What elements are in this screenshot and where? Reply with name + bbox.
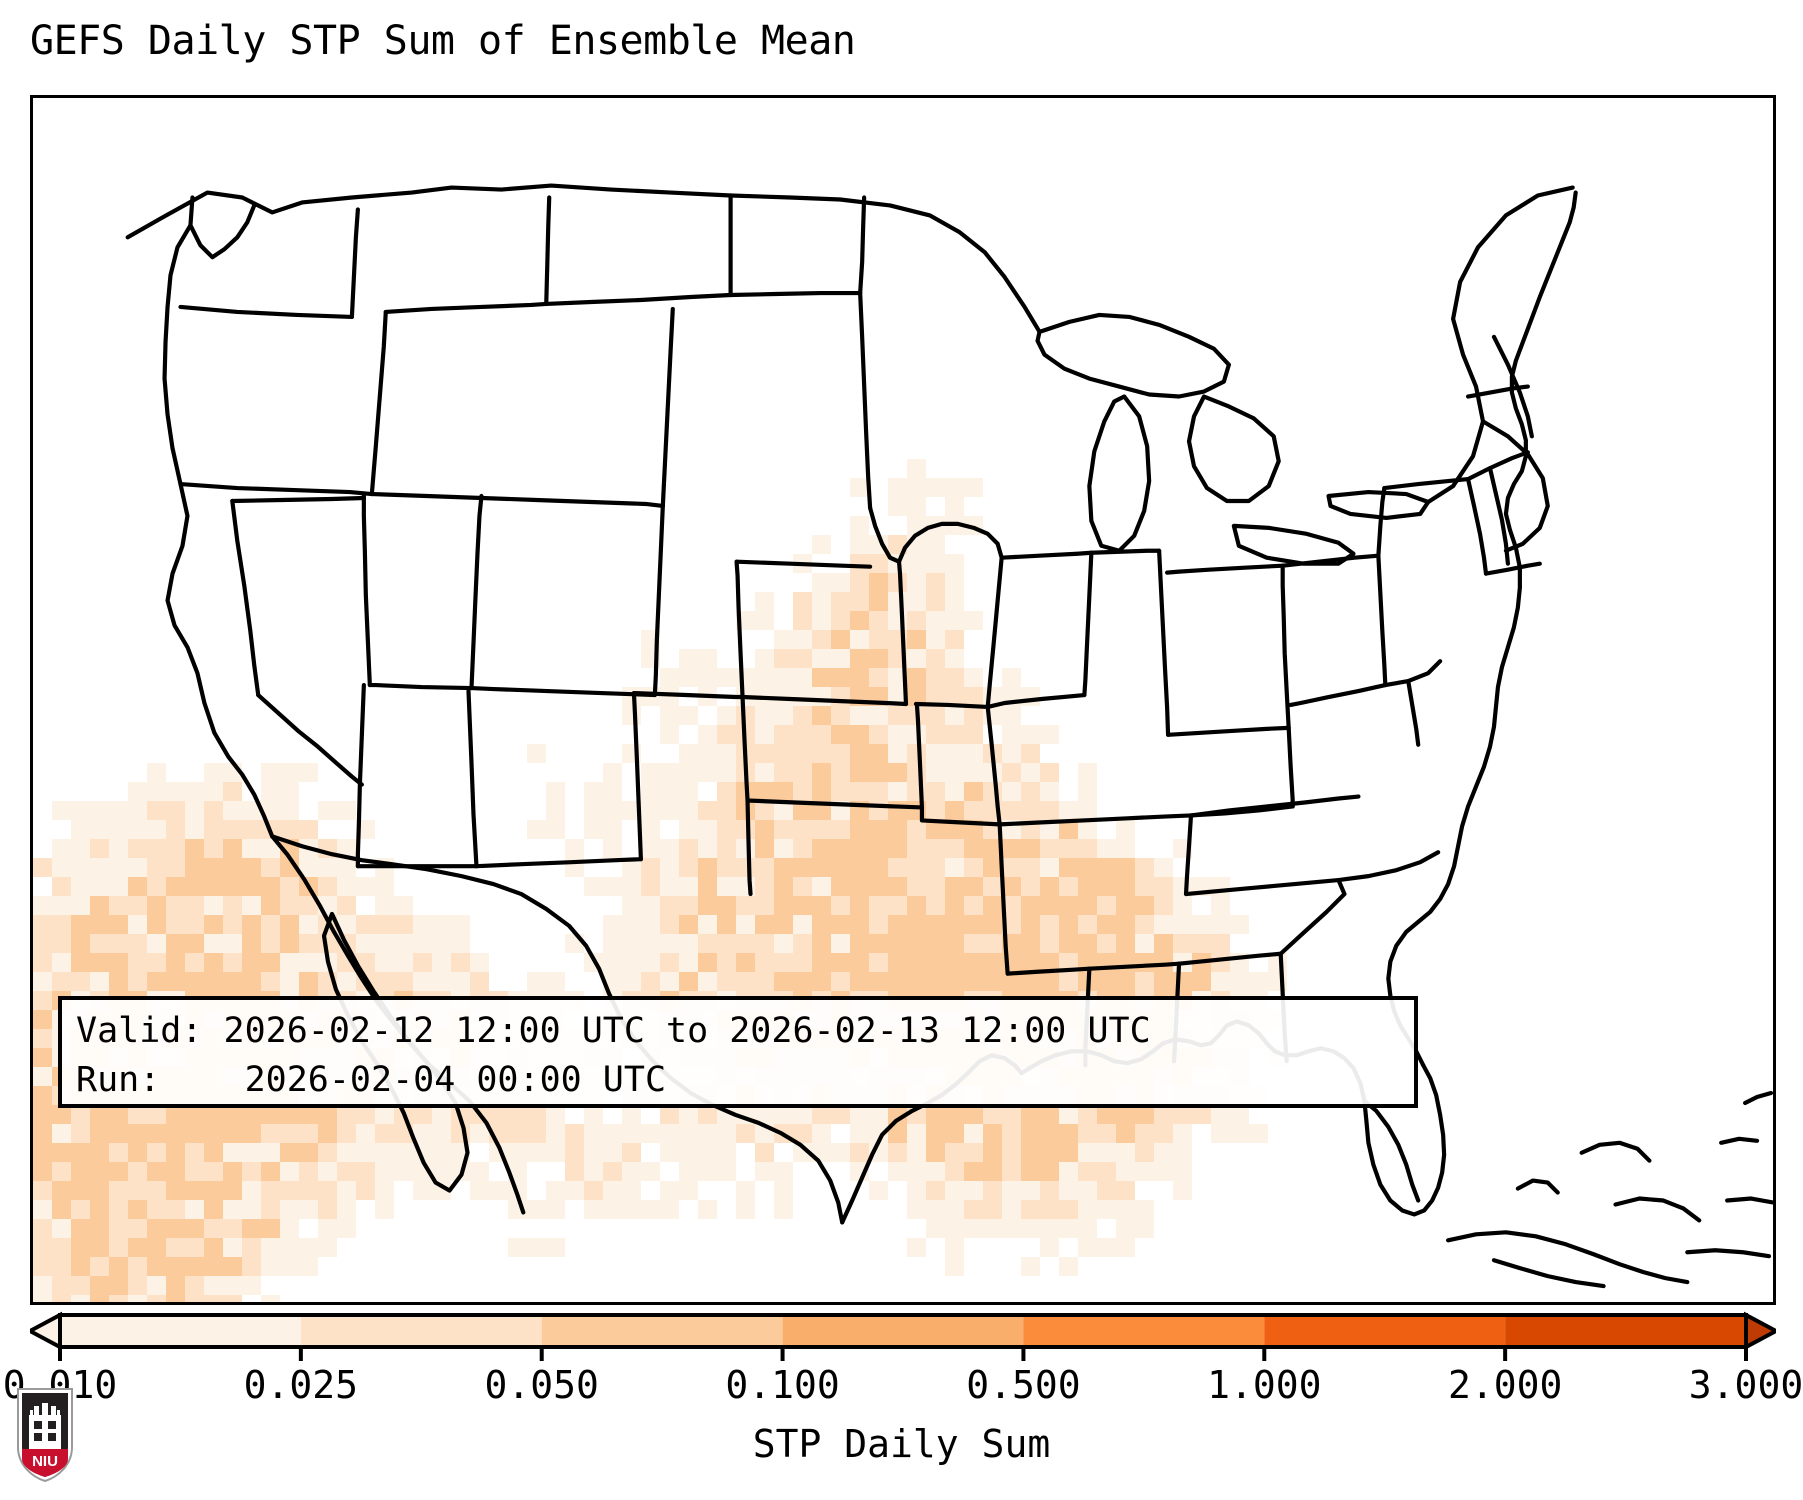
colorbar-tick-1: 0.025 bbox=[244, 1363, 358, 1407]
colorbar[interactable] bbox=[30, 1311, 1776, 1363]
colorbar-axis-label: STP Daily Sum bbox=[0, 1422, 1803, 1466]
colorbar-tick-5: 1.000 bbox=[1207, 1363, 1321, 1407]
colorbar-tick-4: 0.500 bbox=[966, 1363, 1080, 1407]
colorbar-tick-2: 0.050 bbox=[485, 1363, 599, 1407]
logo-text: NIU bbox=[32, 1453, 58, 1470]
map-plot-area[interactable] bbox=[30, 95, 1776, 1305]
colorbar-swatches bbox=[30, 1311, 1776, 1363]
page-title: GEFS Daily STP Sum of Ensemble Mean bbox=[30, 18, 855, 64]
valid-time-line: Valid: 2026-02-12 12:00 UTC to 2026-02-1… bbox=[76, 1007, 1400, 1056]
colorbar-tick-3: 0.100 bbox=[725, 1363, 839, 1407]
colorbar-tick-labels: 0.0100.0250.0500.1000.5001.0002.0003.000 bbox=[0, 1363, 1803, 1413]
niu-logo: NIU bbox=[14, 1385, 76, 1483]
colorbar-tick-7: 3.000 bbox=[1689, 1363, 1803, 1407]
us-map-outline bbox=[33, 98, 1773, 1302]
run-time-line: Run: 2026-02-04 00:00 UTC bbox=[76, 1056, 1400, 1105]
info-box: Valid: 2026-02-12 12:00 UTC to 2026-02-1… bbox=[58, 996, 1418, 1108]
colorbar-tick-6: 2.000 bbox=[1448, 1363, 1562, 1407]
